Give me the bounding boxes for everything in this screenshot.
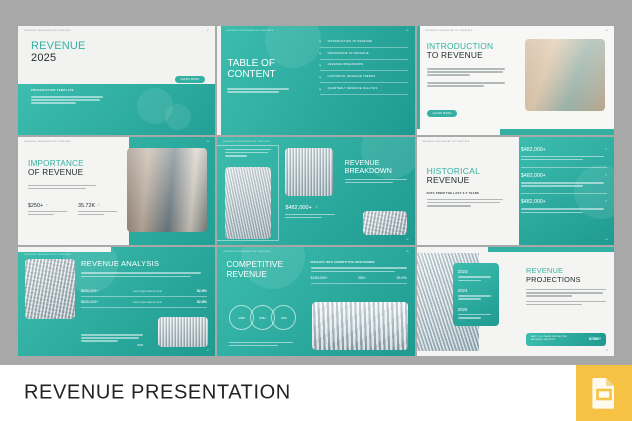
toc-item-label: QUARTERLY REVENUE ANALYSIS [328, 87, 378, 90]
competitive-circle-value: 235K [238, 316, 245, 320]
historical-card-value: $482,000+ [521, 147, 546, 153]
competitive-photo [312, 302, 408, 350]
chevron-right-icon: ▸ [320, 51, 324, 55]
breakdown-photo-tower [225, 167, 271, 239]
stat-block: $250+ ↗ Lorem ipsum dolor amet consectet… [28, 203, 70, 217]
google-slides-icon [591, 377, 617, 409]
stat-value: $250+ [28, 203, 43, 209]
decor-blob [165, 104, 191, 130]
competitive-circle-value: 568+ [259, 316, 266, 320]
slide-header-label: REVENUE PRESENTATION TEMPLATE [423, 141, 470, 143]
slide-thumbnail-analysis[interactable]: REVENUE PRESENTATION TEMPLATE 07 REVENUE… [18, 247, 215, 356]
slide-thumbnail-grid: REVENUE PRESENTATION TEMPLATE 01 REVENUE… [18, 26, 614, 356]
projections-title-line2: PROJECTIONS [526, 276, 606, 284]
slide-page-number: 09 [606, 350, 608, 352]
projection-year: 2024 [458, 288, 494, 293]
slide-thumbnail-table-of-content[interactable]: REVENUE PRESENTATION TEMPLATE 02 TABLE O… [217, 26, 414, 135]
projection-year: 2023 [458, 269, 494, 274]
projections-body-2 [526, 301, 606, 306]
chevron-right-icon: ▸ [320, 63, 324, 67]
analysis-row-label: Lorem ipsum dolor sit amet [133, 301, 162, 304]
slide-page-number: 05 [406, 239, 408, 241]
slide-thumbnail-historical[interactable]: REVENUE PRESENTATION TEMPLATE 06 HISTORI… [417, 137, 614, 246]
competitive-kicker: INSIGHTS INTO COMPETITIVE POSITIONING [311, 261, 407, 264]
breakdown-stat-value: $482,000+ [285, 205, 312, 211]
analysis-row[interactable]: $635,000+ Lorem ipsum dolor sit amet 52.… [81, 297, 207, 308]
historical-card[interactable]: $482,000+ ↗ Lorem ipsum dolor sit amet, … [521, 199, 607, 213]
toc-item-label: REVENUE BREAKDOWN [328, 63, 364, 66]
projection-year: 2025 [458, 307, 494, 312]
toc-item[interactable]: ▸ REVENUE BREAKDOWN [320, 60, 408, 72]
analysis-note [81, 334, 143, 342]
product-title: REVENUE PRESENTATION [24, 382, 291, 405]
projections-highlight-value: $785K+ [589, 337, 601, 341]
toc-item[interactable]: ▸ QUARTERLY REVENUE ANALYSIS [320, 83, 408, 95]
importance-title-line2: OF REVENUE [28, 168, 84, 177]
historical-card[interactable]: $482,000+ ↗ Lorem ipsum dolor sit amet, … [521, 173, 607, 194]
analysis-photo-facade [25, 259, 75, 319]
toc-item-label: IMPORTANCE OF REVENUE [328, 52, 369, 55]
slide-header-label: REVENUE PRESENTATION TEMPLATE [24, 254, 71, 256]
toc-item-label: INTRODUCTION TO REVENUE [328, 40, 372, 43]
competitive-circle-value: 20M [281, 316, 287, 320]
breakdown-body [345, 179, 407, 184]
arrow-up-right-icon: ↗ [604, 147, 607, 151]
intro-body-2 [427, 82, 505, 87]
analysis-photo-structure [158, 317, 208, 347]
analysis-title: REVENUE ANALYSIS [81, 259, 201, 268]
historical-body [427, 199, 503, 207]
slide-page-number: 08 [406, 251, 408, 253]
arrow-up-right-icon: ↗ [97, 203, 100, 207]
chevron-right-icon: ▸ [320, 87, 324, 91]
stat-block: 35.72K ↗ Lorem ipsum dolor amet consecte… [78, 203, 120, 217]
toc-item[interactable]: ▸ INTRODUCTION TO REVENUE [320, 36, 408, 48]
intro-title-line2: TO REVENUE [427, 51, 494, 60]
historical-card-value: $482,000+ [521, 173, 546, 179]
slide-thumbnail-importance[interactable]: REVENUE PRESENTATION TEMPLATE 04 IMPORTA… [18, 137, 215, 246]
slide-header-label: REVENUE PRESENTATION TEMPLATE [226, 30, 273, 32]
toc-item[interactable]: ▸ HISTORICAL REVENUE TRENDS [320, 71, 408, 83]
projection-year-item[interactable]: 2025 Lorem ipsum dolor sit amet adipisci… [458, 307, 494, 319]
analysis-row-value: $635,000+ [81, 300, 98, 304]
importance-body [28, 185, 96, 190]
competitive-circle: 20M [271, 305, 296, 330]
cover-title-secondary: 2025 [31, 52, 86, 64]
stat-caption [28, 211, 70, 216]
slide-thumbnail-breakdown[interactable]: REVENUE PRESENTATION TEMPLATE 05 Lorem i… [217, 137, 414, 246]
analysis-row-percent: 52.8% [197, 289, 207, 293]
footer-bar: REVENUE PRESENTATION [0, 365, 632, 421]
competitive-title-line2: REVENUE [226, 270, 283, 279]
competitive-stat-value: $180,000+ [311, 276, 328, 280]
competitive-caption [229, 342, 293, 347]
arrow-up-right-icon: ↗ [315, 205, 318, 209]
projection-year-item[interactable]: 2024 Lorem ipsum dolor sit amet adipisci… [458, 288, 494, 300]
projection-year-item[interactable]: 2023 Lorem ipsum dolor sit amet adipisci… [458, 269, 494, 281]
historical-card[interactable]: $482,000+ ↗ Lorem ipsum dolor sit amet, … [521, 147, 607, 168]
cover-kicker: PRESENTATION TEMPLATE [31, 89, 103, 92]
historical-card-caption [521, 182, 607, 187]
intro-photo [525, 39, 605, 111]
analysis-body [81, 272, 201, 277]
slide-page-number: 06 [606, 239, 608, 241]
historical-kicker: DATA FROM THE LAST 3-5 YEARS [427, 192, 503, 195]
competitive-stat-value: 35.9% [396, 276, 406, 280]
slide-thumbnail-projections[interactable]: REVENUE PRESENTATION TEMPLATE 09 2023 Lo… [417, 247, 614, 356]
slide-header-label: REVENUE PRESENTATION TEMPLATE [223, 141, 270, 143]
cover-title-primary: REVENUE [31, 40, 86, 52]
analysis-row-value: $635,000+ [81, 289, 98, 293]
slide-header-label: REVENUE PRESENTATION TEMPLATE [24, 141, 71, 143]
importance-title-line1: IMPORTANCE [28, 159, 84, 168]
google-slides-badge [576, 365, 632, 421]
breakdown-title-line2: BREAKDOWN [345, 167, 407, 175]
projection-caption [458, 295, 494, 300]
projections-highlight-box[interactable]: NEXT 3-5 YEARS PROJECTED REVENUE GROWTH … [526, 333, 606, 346]
arrow-up-right-icon: ↗ [604, 199, 607, 203]
slide-page-number: 03 [606, 30, 608, 32]
projection-caption [458, 314, 494, 319]
slide-page-number: 04 [207, 141, 209, 143]
intro-body-1 [427, 68, 505, 76]
analysis-row-percent: 52.8% [197, 300, 207, 304]
projection-caption [458, 276, 494, 281]
breakdown-photo-buildings [285, 148, 333, 196]
slide-thumbnail-cover[interactable]: REVENUE PRESENTATION TEMPLATE 01 REVENUE… [18, 26, 215, 135]
historical-card-value: $482,000+ [521, 199, 546, 205]
chevron-right-icon: ▸ [320, 39, 324, 43]
breakdown-stat-caption [285, 214, 337, 219]
slide-header-label: REVENUE PRESENTATION TEMPLATE [223, 251, 270, 253]
intro-cta-button[interactable]: LEARN MORE [427, 110, 458, 117]
slide-header-label: REVENUE PRESENTATION TEMPLATE [426, 30, 473, 32]
toc-body-text [227, 88, 289, 93]
arrow-up-right-icon: ↗ [45, 203, 48, 207]
slide-page-number: 02 [406, 30, 408, 32]
analysis-row-label: Lorem ipsum dolor sit amet [133, 290, 162, 293]
stat-value: 35.72K [78, 203, 95, 209]
cover-cta-button[interactable]: LEARN MORE [175, 76, 206, 83]
breakdown-photo-stairs [363, 211, 407, 235]
competitive-body [311, 267, 407, 272]
toc-title-line2: CONTENT [227, 69, 275, 80]
projections-highlight-label: NEXT 3-5 YEARS PROJECTED REVENUE GROWTH [531, 336, 577, 342]
chevron-right-icon: ▸ [320, 75, 324, 79]
breakdown-side-note [225, 149, 271, 157]
analysis-row[interactable]: $635,000+ Lorem ipsum dolor sit amet 52.… [81, 286, 207, 297]
historical-title-line2: REVENUE [427, 176, 480, 186]
historical-card-caption [521, 156, 607, 161]
slide-thumbnail-introduction[interactable]: REVENUE PRESENTATION TEMPLATE 03 INTRODU… [417, 26, 614, 135]
cover-body-text [31, 96, 103, 104]
arrow-up-right-icon: ↗ [604, 173, 607, 177]
slide-thumbnail-competitive[interactable]: REVENUE PRESENTATION TEMPLATE 08 COMPETI… [217, 247, 414, 356]
stat-caption [78, 211, 120, 216]
projections-body-1 [526, 289, 606, 297]
toc-item[interactable]: ▸ IMPORTANCE OF REVENUE [320, 48, 408, 60]
toc-title-line1: TABLE OF [227, 58, 275, 69]
analysis-note-year: 2025 [81, 344, 143, 347]
importance-photo [127, 148, 207, 232]
historical-card-caption [521, 208, 607, 213]
slide-page-number: 01 [207, 30, 209, 32]
slide-header-label: REVENUE PRESENTATION TEMPLATE [24, 30, 71, 32]
competitive-stat-value: 250+ [358, 276, 366, 280]
slide-page-number: 07 [207, 350, 209, 352]
toc-item-label: HISTORICAL REVENUE TRENDS [328, 75, 376, 78]
